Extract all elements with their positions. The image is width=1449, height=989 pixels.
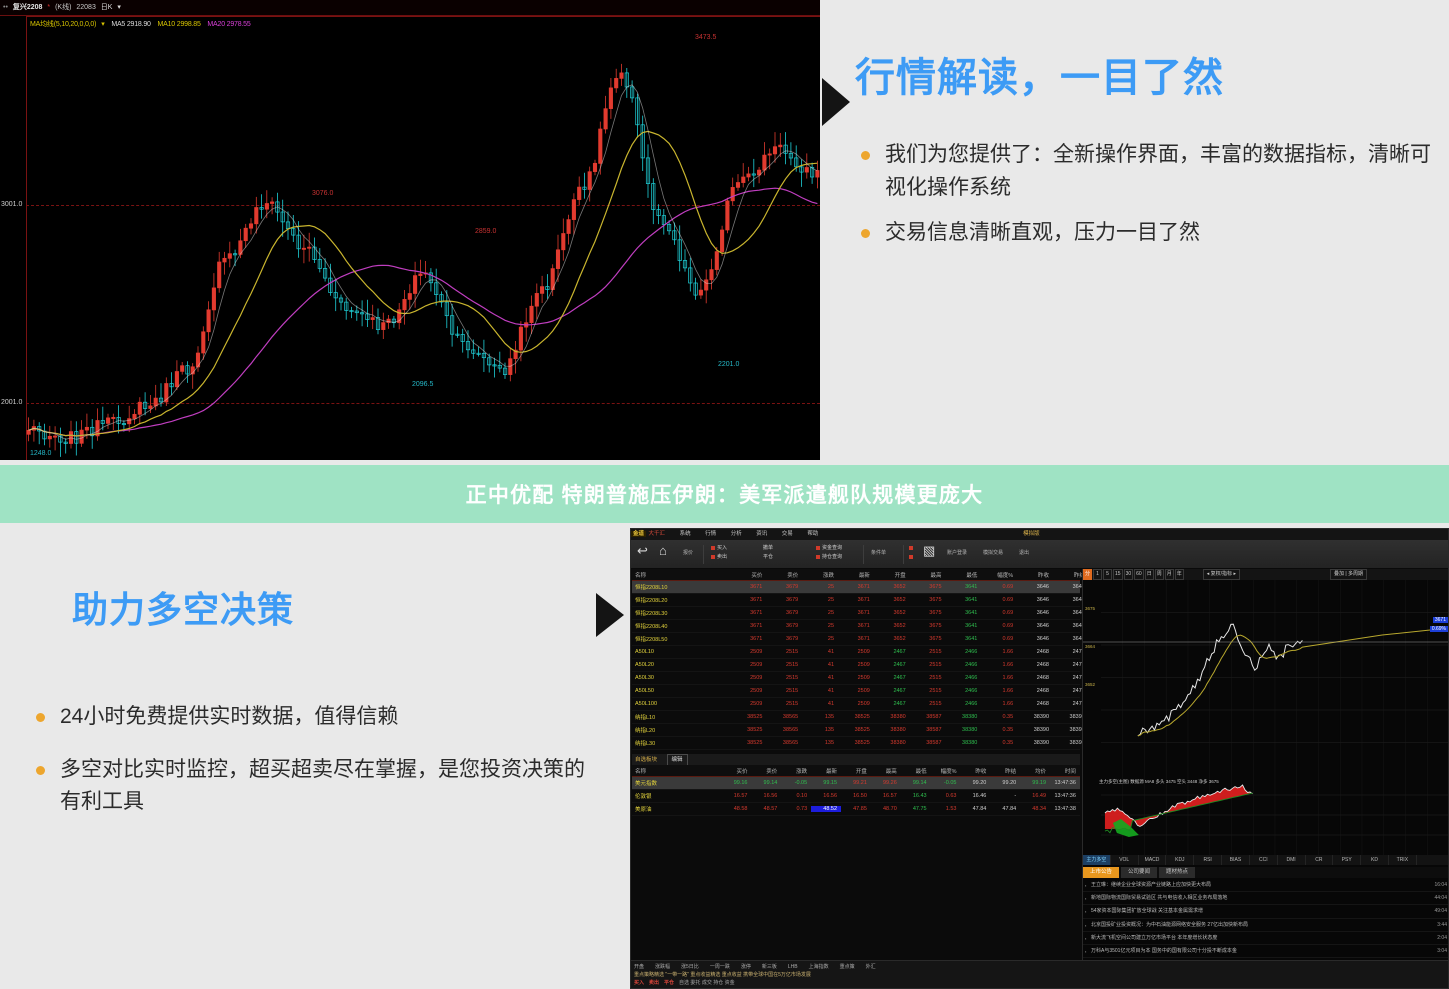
kchart-instrument-name: 复兴2208 bbox=[13, 4, 43, 11]
table-cell: 2515 bbox=[910, 701, 946, 707]
table-cell: 3671 bbox=[731, 584, 767, 590]
column-header[interactable]: 昨结 bbox=[990, 767, 1020, 775]
news-date: 16:04 bbox=[1434, 879, 1447, 892]
news-title: 万科A与3501亿元项目为本 国务中的国有限公司十分投不断成本金 bbox=[1091, 948, 1237, 954]
table-cell: 1.66 bbox=[981, 675, 1017, 681]
stop-dot-icon bbox=[909, 546, 913, 550]
quote-table[interactable]: 名称买价卖价涨跌最新开盘最高最低幅度%昨收昨结均价 恒指2208L1036713… bbox=[632, 569, 1080, 750]
table-cell: 47.84 bbox=[990, 806, 1020, 812]
table-cell: 38525 bbox=[731, 740, 767, 746]
table-cell: 2468 bbox=[1017, 649, 1053, 655]
current-price-tag: 3671 bbox=[1433, 617, 1448, 623]
table-cell: 38587 bbox=[910, 714, 946, 720]
table-cell: 25 bbox=[802, 597, 838, 603]
column-header[interactable]: 均价 bbox=[1020, 767, 1050, 775]
instrument-name[interactable]: 恒指2208L40 bbox=[632, 622, 731, 630]
table-cell: 99.14 bbox=[751, 780, 781, 786]
table-cell: 16.57 bbox=[871, 793, 901, 799]
table-cell: 13:47:38 bbox=[1050, 806, 1080, 812]
table-cell: 0.69 bbox=[981, 636, 1017, 642]
top-text-block: 行情解读，一目了然 我们为您提供了：全新操作界面，丰富的数据指标，清晰可视化操作… bbox=[855, 55, 1449, 263]
news-list-item[interactable]: 新地国际物流国际贸易试验区 共与电信收入相区业务布局落地44:04 bbox=[1083, 892, 1449, 905]
column-header[interactable]: 名称 bbox=[632, 571, 731, 579]
table-cell: 3641 bbox=[946, 636, 982, 642]
bottom-bullet-list: 24小时免费提供实时数据，值得信赖 多空对比实时监控，超买超卖尽在掌握，是您投资… bbox=[30, 701, 605, 819]
intraday-price-chart[interactable]: 367536643652 bbox=[1083, 580, 1449, 775]
table-cell: 2467 bbox=[874, 649, 910, 655]
table-cell: 3675 bbox=[910, 597, 946, 603]
news-tab-题材热点[interactable]: 题材热点 bbox=[1159, 867, 1195, 878]
column-header[interactable]: 买价 bbox=[731, 571, 767, 579]
table-cell: 99.26 bbox=[871, 780, 901, 786]
indicator-tab-CR[interactable]: CR bbox=[1306, 855, 1334, 865]
table-cell: 38525 bbox=[838, 727, 874, 733]
table-cell: 38525 bbox=[838, 714, 874, 720]
indicator-legend: 主力多空(主图) 数据源 MA8 多头 3475 空头 3448 净多 3675 bbox=[1099, 779, 1219, 785]
table-cell: 3671 bbox=[838, 636, 874, 642]
quotes-button[interactable]: 报价 bbox=[683, 549, 693, 556]
table-cell: 3671 bbox=[838, 597, 874, 603]
table-cell: 99.20 bbox=[960, 780, 990, 786]
table-cell: 41 bbox=[802, 649, 838, 655]
kchart-star[interactable]: * bbox=[47, 4, 50, 11]
table-cell: 38587 bbox=[910, 727, 946, 733]
bull-bear-indicator-chart[interactable] bbox=[1083, 775, 1449, 855]
footer-tab-row[interactable]: 开盘涨跌幅涨5日比一周一跌涨停新三板LHB上海指数重点策外汇 bbox=[634, 963, 887, 970]
indicator-tab-主力多空[interactable]: 主力多空 bbox=[1083, 855, 1111, 865]
conditional-order-label: 条件单 bbox=[871, 549, 886, 556]
table-cell: 16.46 bbox=[960, 793, 990, 799]
footer-ticker-text: 重点策略精选 "一带一路" 重点收益精选 重点收益 携带全球中国在5万亿市场发展 bbox=[634, 971, 811, 978]
table-cell: 38525 bbox=[838, 740, 874, 746]
table-cell: 3679 bbox=[766, 636, 802, 642]
indicator-tab-VOL[interactable]: VOL bbox=[1111, 855, 1139, 865]
table-cell: 16.56 bbox=[751, 793, 781, 799]
news-list-item[interactable]: 54家资本国际集团扩放全球战 关注基本金属需求增49:04 bbox=[1083, 905, 1449, 918]
footer-tab-重点策[interactable]: 重点策 bbox=[840, 964, 855, 970]
news-tab-bar[interactable]: 上市公告公司要闻题材热点 bbox=[1083, 867, 1449, 878]
quote-table-body[interactable]: 恒指2208L10367136792536713652367536410.693… bbox=[632, 581, 1080, 750]
footer-action-平仓[interactable]: 平仓 bbox=[664, 980, 674, 986]
table-cell: 2515 bbox=[766, 662, 802, 668]
top-headline: 行情解读，一目了然 bbox=[855, 55, 1449, 101]
table-cell: 3671 bbox=[838, 610, 874, 616]
stop-group[interactable] bbox=[909, 544, 915, 562]
table-cell: 3652 bbox=[874, 584, 910, 590]
list-item: 24小时免费提供实时数据，值得信赖 bbox=[30, 701, 605, 734]
instrument-name[interactable]: 纳指L30 bbox=[632, 739, 731, 747]
table-cell: 38380 bbox=[874, 740, 910, 746]
kchart-candles-svg bbox=[26, 16, 820, 460]
timeframe-button-60[interactable]: 60 bbox=[1134, 569, 1144, 580]
table-cell: 3675 bbox=[910, 636, 946, 642]
callout-arrow-top bbox=[822, 78, 850, 126]
news-tab-公司要闻[interactable]: 公司要闻 bbox=[1121, 867, 1157, 878]
table-cell: 3671 bbox=[838, 623, 874, 629]
table-row[interactable]: 恒指2208L20367136792536713652367536410.693… bbox=[632, 594, 1080, 607]
news-list-item[interactable]: 王立琳：继续企业全球资源产业链路上应加快更大布局16:04 bbox=[1083, 879, 1449, 892]
query-group[interactable]: 资金查询 持仓查询 bbox=[816, 544, 842, 562]
watchlist-table-header: 名称买价卖价涨跌最新开盘最高最低幅度%昨收昨结均价时间 bbox=[632, 765, 1080, 777]
table-cell: 38525 bbox=[731, 714, 767, 720]
news-date: 3:44 bbox=[1437, 919, 1447, 932]
bottom-headline: 助力多空决策 bbox=[30, 581, 605, 633]
timeframe-bar[interactable]: 分15153060日周月年◂ 复权/指标 ▸叠加 | 多周期 bbox=[1083, 569, 1449, 580]
table-cell: 99.19 bbox=[1020, 780, 1050, 786]
table-cell: -0.05 bbox=[931, 780, 961, 786]
conditional-order-button[interactable]: 条件单 bbox=[871, 549, 886, 556]
menu-item-news[interactable]: 资讯 bbox=[756, 531, 767, 537]
instrument-name[interactable]: 恒指2208L10 bbox=[632, 583, 731, 591]
table-cell: 16.43 bbox=[901, 793, 931, 799]
sim-trade-label: 模拟交易 bbox=[983, 549, 1003, 556]
table-cell: 2467 bbox=[874, 688, 910, 694]
footer-tab-一周一跌[interactable]: 一周一跌 bbox=[710, 964, 730, 970]
table-cell: 3671 bbox=[731, 623, 767, 629]
watchlist-table-body[interactable]: 美元指数99.1699.14-0.0599.1599.2199.2699.14-… bbox=[632, 777, 1080, 816]
toolbar-divider bbox=[863, 545, 864, 564]
instrument-name[interactable]: A50L50 bbox=[632, 688, 731, 694]
news-list-item[interactable]: 万科A与3501亿元项目为本 国务中的国有限公司十分投不断成本金3:04 bbox=[1083, 945, 1449, 958]
indicator-tab-MACD[interactable]: MACD bbox=[1139, 855, 1167, 865]
column-header[interactable]: 开盘 bbox=[874, 571, 910, 579]
table-cell: 0.69 bbox=[981, 597, 1017, 603]
svg-text:3664: 3664 bbox=[1085, 644, 1095, 649]
table-cell: 48.57 bbox=[751, 806, 781, 812]
table-cell: 135 bbox=[802, 727, 838, 733]
footer-tab-外汇[interactable]: 外汇 bbox=[866, 964, 876, 970]
home-button[interactable]: ⌂ bbox=[659, 544, 667, 558]
table-cell: 3646 bbox=[1017, 636, 1053, 642]
menu-item-analysis[interactable]: 分析 bbox=[731, 531, 742, 537]
table-cell: 38380 bbox=[874, 714, 910, 720]
instrument-name[interactable]: 恒指2208L50 bbox=[632, 635, 731, 643]
table-cell: 41 bbox=[802, 675, 838, 681]
table-row[interactable]: A50L10250925154125092467251524661.662468… bbox=[632, 646, 1080, 659]
table-cell: 3679 bbox=[766, 584, 802, 590]
footer-right-tabs[interactable]: 自选 委托 成交 持仓 资金 bbox=[679, 980, 735, 986]
instrument-name[interactable]: 纳指L10 bbox=[632, 713, 731, 721]
news-list-item[interactable]: 新大流飞机空间公司建立万亿市场平台 本年度增长状态度2:04 bbox=[1083, 932, 1449, 945]
cancel-close-group[interactable]: 撤单 平仓 bbox=[763, 544, 773, 562]
terminal-toolbar[interactable]: ↩ ⌂ 报价 买入 卖出 撤单 平仓 资金查询 持仓查询 条件单 bbox=[631, 540, 1448, 569]
table-cell: 99.21 bbox=[841, 780, 871, 786]
table-cell: 16.50 bbox=[841, 793, 871, 799]
top-bullet-list: 我们为您提供了：全新操作界面，丰富的数据指标，清晰可视化操作系统 交易信息清晰直… bbox=[855, 139, 1449, 250]
table-cell: 3671 bbox=[838, 584, 874, 590]
table-cell: 3675 bbox=[910, 584, 946, 590]
table-cell: 3646 bbox=[1017, 623, 1053, 629]
trading-terminal-screenshot[interactable]: 金道 大千汇 系统 行情 分析 资讯 交易 帮助 模拟版 ↩ ⌂ 报价 买入 卖… bbox=[630, 528, 1449, 989]
news-date: 2:04 bbox=[1437, 932, 1447, 945]
kchart-period-selector[interactable]: 日K bbox=[101, 4, 113, 11]
menu-item-trade[interactable]: 交易 bbox=[782, 531, 793, 537]
column-header[interactable]: 买价 bbox=[722, 767, 752, 775]
instrument-name[interactable]: A50L100 bbox=[632, 701, 731, 707]
svg-text:3675: 3675 bbox=[1085, 606, 1095, 611]
table-row[interactable]: 恒指2208L30367136792536713652367536410.693… bbox=[632, 607, 1080, 620]
chart-icon: ▧ bbox=[923, 544, 935, 558]
table-cell: 47.75 bbox=[901, 806, 931, 812]
home-icon: ⌂ bbox=[659, 544, 667, 558]
table-cell: 0.69 bbox=[981, 623, 1017, 629]
table-cell: 38380 bbox=[946, 714, 982, 720]
footer-button-row[interactable]: 买入卖出平仓自选 委托 成交 持仓 资金 bbox=[634, 979, 735, 986]
table-row[interactable]: 恒指2208L10367136792536713652367536410.693… bbox=[632, 581, 1080, 594]
watchlist-title: 自选板块 bbox=[635, 757, 657, 763]
callout-arrow-bottom bbox=[596, 593, 624, 637]
terminal-right-pane[interactable]: 分15153060日周月年◂ 复权/指标 ▸叠加 | 多周期 367536643… bbox=[1082, 569, 1449, 960]
indicator-tab-DMI[interactable]: DMI bbox=[1278, 855, 1306, 865]
timeframe-button-1[interactable]: 1 bbox=[1093, 569, 1102, 580]
login-label: 账户登录 bbox=[947, 549, 967, 556]
terminal-menubar[interactable]: 金道 大千汇 系统 行情 分析 资讯 交易 帮助 模拟版 bbox=[631, 529, 1448, 540]
table-row[interactable]: A50L100250925154125092467251524661.66246… bbox=[632, 698, 1080, 711]
instrument-name[interactable]: 美原油 bbox=[632, 805, 722, 813]
table-row[interactable]: 恒指2208L40367136792536713652367536410.693… bbox=[632, 620, 1080, 633]
table-cell: 3679 bbox=[766, 610, 802, 616]
overlay-selector[interactable]: 叠加 | 多周期 bbox=[1330, 569, 1367, 580]
table-row[interactable]: 纳指L303852538565135385253838038587383800.… bbox=[632, 737, 1080, 750]
column-header[interactable]: 幅度% bbox=[981, 571, 1017, 579]
column-header[interactable]: 昨收 bbox=[1017, 571, 1053, 579]
table-cell: 25 bbox=[802, 610, 838, 616]
footer-tab-LHB[interactable]: LHB bbox=[788, 964, 798, 970]
current-pct-tag: 0.69% bbox=[1430, 626, 1448, 632]
table-row[interactable]: 纳指L103852538565135385253838038587383800.… bbox=[632, 711, 1080, 724]
column-header[interactable]: 开盘 bbox=[841, 767, 871, 775]
table-cell: 38380 bbox=[946, 727, 982, 733]
table-cell: 38380 bbox=[946, 740, 982, 746]
quotes-label: 报价 bbox=[683, 549, 693, 556]
timeframe-button-分[interactable]: 分 bbox=[1083, 569, 1092, 580]
table-cell: 99.20 bbox=[990, 780, 1020, 786]
table-cell: 38565 bbox=[766, 727, 802, 733]
indicator-tab-CCI[interactable]: CCI bbox=[1250, 855, 1278, 865]
column-header[interactable]: 名称 bbox=[632, 767, 722, 775]
column-header[interactable]: 时间 bbox=[1050, 767, 1080, 775]
table-cell: 1.66 bbox=[981, 649, 1017, 655]
column-header[interactable]: 最低 bbox=[946, 571, 982, 579]
news-tab-上市公告[interactable]: 上市公告 bbox=[1083, 867, 1119, 878]
column-header[interactable]: 涨跌 bbox=[781, 767, 811, 775]
kchart-period-code: 22083 bbox=[76, 4, 95, 11]
table-cell: 13:47:36 bbox=[1050, 780, 1080, 786]
table-row[interactable]: 美元指数99.1699.14-0.0599.1599.2199.2699.14-… bbox=[632, 777, 1080, 790]
footer-tab-涨5日比[interactable]: 涨5日比 bbox=[681, 964, 699, 970]
instrument-name[interactable]: A50L30 bbox=[632, 675, 731, 681]
menu-item-system[interactable]: 系统 bbox=[680, 531, 691, 537]
list-item: 交易信息清晰直观，压力一目了然 bbox=[855, 217, 1449, 250]
instrument-name[interactable]: 恒指2208L30 bbox=[632, 609, 731, 617]
table-cell: 2468 bbox=[1017, 675, 1053, 681]
instrument-name[interactable]: 纳指L20 bbox=[632, 726, 731, 734]
table-cell: 2509 bbox=[731, 688, 767, 694]
terminal-footer[interactable]: 开盘涨跌幅涨5日比一周一跌涨停新三板LHB上海指数重点策外汇 重点策略精选 "一… bbox=[631, 960, 1448, 988]
menu-item-quotes[interactable]: 行情 bbox=[705, 531, 716, 537]
table-cell: 2509 bbox=[731, 649, 767, 655]
table-cell: 48.70 bbox=[871, 806, 901, 812]
table-cell: 2509 bbox=[731, 662, 767, 668]
instrument-name[interactable]: 伦敦银 bbox=[632, 792, 722, 800]
footer-tab-上海指数[interactable]: 上海指数 bbox=[809, 964, 829, 970]
table-cell: 135 bbox=[802, 714, 838, 720]
instrument-name[interactable]: 恒指2208L20 bbox=[632, 596, 731, 604]
chart-toggle-button[interactable]: ▧ bbox=[923, 544, 935, 558]
table-row[interactable]: 伦敦银16.5716.560.1016.5616.5016.5716.430.6… bbox=[632, 790, 1080, 803]
table-cell: 48.52 bbox=[811, 806, 841, 812]
indicator-tab-BIAS[interactable]: BIAS bbox=[1222, 855, 1250, 865]
table-cell: 2466 bbox=[946, 688, 982, 694]
table-cell: 2515 bbox=[766, 675, 802, 681]
indicator-tab-bar[interactable]: 主力多空VOLMACDKDJRSIBIASCCIDMICRPSYKDTRIX bbox=[1083, 855, 1449, 865]
footer-tab-涨跌幅[interactable]: 涨跌幅 bbox=[655, 964, 670, 970]
column-header[interactable]: 最新 bbox=[811, 767, 841, 775]
indicator-tab-RSI[interactable]: RSI bbox=[1194, 855, 1222, 865]
table-cell: 0.73 bbox=[781, 806, 811, 812]
news-list[interactable]: 王立琳：继续企业全球资源产业链路上应加快更大布局16:04新地国际物流国际贸易试… bbox=[1083, 879, 1449, 960]
news-banner[interactable]: 正中优配 特朗普施压伊朗：美军派遣舰队规模更庞大 bbox=[0, 465, 1449, 523]
login-button[interactable]: 账户登录 bbox=[947, 549, 967, 556]
kline-chart-screenshot[interactable]: •• 复兴2208 * (K线) 22083 日K ▾ MA均线(5,10,20… bbox=[0, 0, 820, 460]
table-row[interactable]: 恒指2208L50367136792536713652367536410.693… bbox=[632, 633, 1080, 646]
table-cell: 2509 bbox=[731, 675, 767, 681]
table-cell: 2467 bbox=[874, 662, 910, 668]
funds-query-label: 资金查询 bbox=[822, 545, 842, 551]
stop-dot-icon-2 bbox=[909, 555, 913, 559]
news-list-item[interactable]: 北京国投矿业投资概况：为中石油能源网络安全服务 27亿出加快新布局3:44 bbox=[1083, 919, 1449, 932]
table-cell: 2515 bbox=[766, 701, 802, 707]
watchlist-table[interactable]: 名称买价卖价涨跌最新开盘最高最低幅度%昨收昨结均价时间 美元指数99.1699.… bbox=[632, 765, 1080, 816]
table-cell: 3675 bbox=[910, 623, 946, 629]
table-cell: 3671 bbox=[731, 597, 767, 603]
terminal-logo-secondary: 大千汇 bbox=[649, 531, 666, 537]
table-cell: 38565 bbox=[766, 740, 802, 746]
table-cell: 99.16 bbox=[722, 780, 752, 786]
kchart-chart-type: (K线) bbox=[55, 4, 71, 11]
table-cell: 2466 bbox=[946, 675, 982, 681]
instrument-name[interactable]: A50L20 bbox=[632, 662, 731, 668]
table-row[interactable]: A50L20250925154125092467251524661.662468… bbox=[632, 659, 1080, 672]
table-row[interactable]: 纳指L203852538565135385253838038587383800.… bbox=[632, 724, 1080, 737]
timeframe-button-30[interactable]: 30 bbox=[1124, 569, 1134, 580]
table-cell: 2509 bbox=[838, 649, 874, 655]
timeframe-button-日[interactable]: 日 bbox=[1145, 569, 1154, 580]
menu-item-help[interactable]: 帮助 bbox=[807, 531, 818, 537]
column-header[interactable]: 最高 bbox=[871, 767, 901, 775]
table-cell: 3652 bbox=[874, 623, 910, 629]
exit-button[interactable]: 退出 bbox=[1019, 549, 1029, 556]
table-cell: 3671 bbox=[731, 610, 767, 616]
list-item: 多空对比实时监控，超买超卖尽在掌握，是您投资决策的有利工具 bbox=[30, 754, 605, 819]
column-header[interactable]: 涨跌 bbox=[802, 571, 838, 579]
timeframe-button-年[interactable]: 年 bbox=[1175, 569, 1184, 580]
quote-table-header: 名称买价卖价涨跌最新开盘最高最低幅度%昨收昨结均价 bbox=[632, 569, 1080, 581]
table-cell: 2515 bbox=[910, 662, 946, 668]
table-cell: 3652 bbox=[874, 610, 910, 616]
footer-tab-新三板[interactable]: 新三板 bbox=[762, 964, 777, 970]
svg-text:3652: 3652 bbox=[1085, 682, 1095, 687]
table-cell: 38565 bbox=[766, 714, 802, 720]
table-cell: 13:47:36 bbox=[1050, 793, 1080, 799]
column-header[interactable]: 最高 bbox=[910, 571, 946, 579]
table-cell: 3652 bbox=[874, 597, 910, 603]
timeframe-button-5[interactable]: 5 bbox=[1103, 569, 1112, 580]
table-cell: 16.49 bbox=[1020, 793, 1050, 799]
timeframe-button-月[interactable]: 月 bbox=[1165, 569, 1174, 580]
table-cell: 25 bbox=[802, 623, 838, 629]
table-cell: 2515 bbox=[910, 649, 946, 655]
table-cell: 41 bbox=[802, 701, 838, 707]
column-header[interactable]: 最低 bbox=[901, 767, 931, 775]
footer-tab-涨停[interactable]: 涨停 bbox=[741, 964, 751, 970]
column-header[interactable]: 卖价 bbox=[766, 571, 802, 579]
back-button[interactable]: ↩ bbox=[637, 544, 648, 558]
indicator-tab-KD[interactable]: KD bbox=[1361, 855, 1389, 865]
instrument-name[interactable]: 美元指数 bbox=[632, 779, 722, 787]
table-cell: 3641 bbox=[946, 597, 982, 603]
kchart-titlebar: •• 复兴2208 * (K线) 22083 日K ▾ bbox=[0, 0, 820, 16]
funds-dot-icon bbox=[816, 546, 820, 550]
news-banner-text: 正中优配 特朗普施压伊朗：美军派遣舰队规模更庞大 bbox=[466, 479, 984, 509]
table-cell: 25 bbox=[802, 584, 838, 590]
chart-nav-selector[interactable]: ◂ 复权/指标 ▸ bbox=[1203, 569, 1240, 580]
indicator-tab-PSY[interactable]: PSY bbox=[1333, 855, 1361, 865]
table-cell: 48.34 bbox=[1020, 806, 1050, 812]
kchart-dots: •• bbox=[3, 4, 8, 11]
news-date: 3:04 bbox=[1437, 945, 1447, 958]
buy-sell-group[interactable]: 买入 卖出 bbox=[711, 544, 727, 562]
sim-trade-button[interactable]: 模拟交易 bbox=[983, 549, 1003, 556]
table-cell: 38587 bbox=[910, 740, 946, 746]
column-header[interactable]: 卖价 bbox=[751, 767, 781, 775]
indicator-tab-TRIX[interactable]: TRIX bbox=[1389, 855, 1417, 865]
table-cell: 3675 bbox=[910, 610, 946, 616]
table-row[interactable]: A50L30250925154125092467251524661.662468… bbox=[632, 672, 1080, 685]
indicator-tab-KDJ[interactable]: KDJ bbox=[1166, 855, 1194, 865]
footer-action-卖出[interactable]: 卖出 bbox=[649, 980, 659, 986]
table-cell: 1.53 bbox=[931, 806, 961, 812]
column-header[interactable]: 幅度% bbox=[931, 767, 961, 775]
table-cell: 3679 bbox=[766, 623, 802, 629]
table-row[interactable]: A50L50250925154125092467251524661.662468… bbox=[632, 685, 1080, 698]
timeframe-button-15[interactable]: 15 bbox=[1113, 569, 1123, 580]
table-cell: 38525 bbox=[731, 727, 767, 733]
instrument-name[interactable]: A50L10 bbox=[632, 649, 731, 655]
news-date: 44:04 bbox=[1434, 892, 1447, 905]
list-item: 我们为您提供了：全新操作界面，丰富的数据指标，清晰可视化操作系统 bbox=[855, 139, 1449, 204]
table-row[interactable]: 美原油48.5848.570.7348.5247.8548.7047.751.5… bbox=[632, 803, 1080, 816]
chevron-down-icon[interactable]: ▾ bbox=[117, 4, 121, 11]
footer-action-买入[interactable]: 买入 bbox=[634, 980, 644, 986]
buy-label: 买入 bbox=[717, 545, 727, 551]
column-header[interactable]: 最新 bbox=[838, 571, 874, 579]
table-cell: 0.69 bbox=[981, 610, 1017, 616]
toolbar-divider bbox=[703, 545, 704, 564]
table-cell: 38390 bbox=[1017, 714, 1053, 720]
table-cell: 3646 bbox=[1017, 610, 1053, 616]
table-cell: 0.10 bbox=[781, 793, 811, 799]
watchlist-header-bar[interactable]: 自选板块 编辑 bbox=[632, 754, 1080, 765]
table-cell: 3641 bbox=[946, 584, 982, 590]
timeframe-button-周[interactable]: 周 bbox=[1155, 569, 1164, 580]
table-cell: 0.35 bbox=[981, 727, 1017, 733]
table-cell: 3641 bbox=[946, 610, 982, 616]
sell-dot-icon bbox=[711, 555, 715, 559]
table-cell: 3641 bbox=[946, 623, 982, 629]
footer-tab-开盘[interactable]: 开盘 bbox=[634, 964, 644, 970]
column-header[interactable]: 昨收 bbox=[960, 767, 990, 775]
